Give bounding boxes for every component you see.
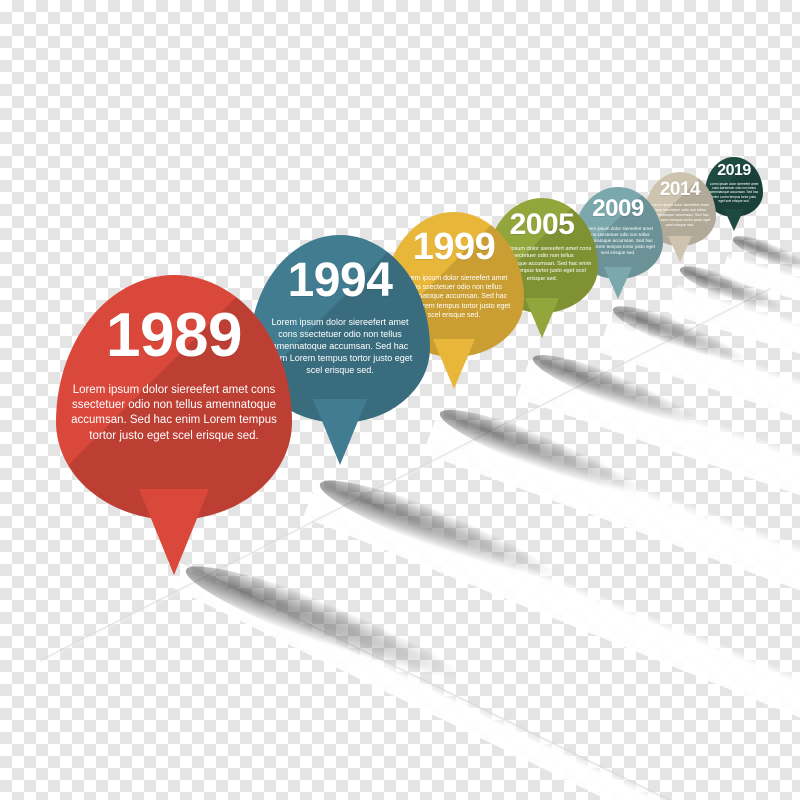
ground-streak-4: [516, 358, 800, 639]
ground-streak-6: [669, 283, 800, 489]
cast-shadow-1994: [313, 466, 560, 591]
pin-tip-2005: [525, 298, 559, 338]
pin-tip-2014: [668, 236, 692, 262]
infographic-canvas: 2019 Lorem ipsum dolor siereefert amet c…: [0, 0, 800, 800]
pin-tip-2009: [604, 267, 632, 299]
ground-streak-3: [423, 412, 800, 734]
cast-shadow-2005: [528, 344, 705, 436]
cast-shadow-2014: [676, 259, 785, 318]
ground-streak-7: [721, 253, 800, 432]
pin-tip-2019: [724, 209, 744, 231]
pin-inner-shadow-1989: [56, 275, 292, 520]
timeline-pin-1989[interactable]: 1989 Lorem ipsum dolor siereefert amet c…: [56, 275, 292, 520]
cast-shadow-2009: [608, 297, 748, 371]
ground-streak-2: [303, 480, 800, 800]
pin-tip-1994: [313, 399, 367, 465]
cast-shadow-2019: [730, 230, 800, 279]
cast-shadow-1999: [434, 397, 647, 506]
pin-tip-1999: [433, 339, 475, 389]
ground-streak-edge-1: [182, 563, 800, 800]
pin-tip-1989: [139, 489, 209, 575]
ground-streak-1: [174, 565, 800, 800]
pin-shape-1989: [56, 275, 292, 520]
ground-streak-5: [598, 316, 800, 556]
cast-shadow-1989: [178, 550, 464, 693]
